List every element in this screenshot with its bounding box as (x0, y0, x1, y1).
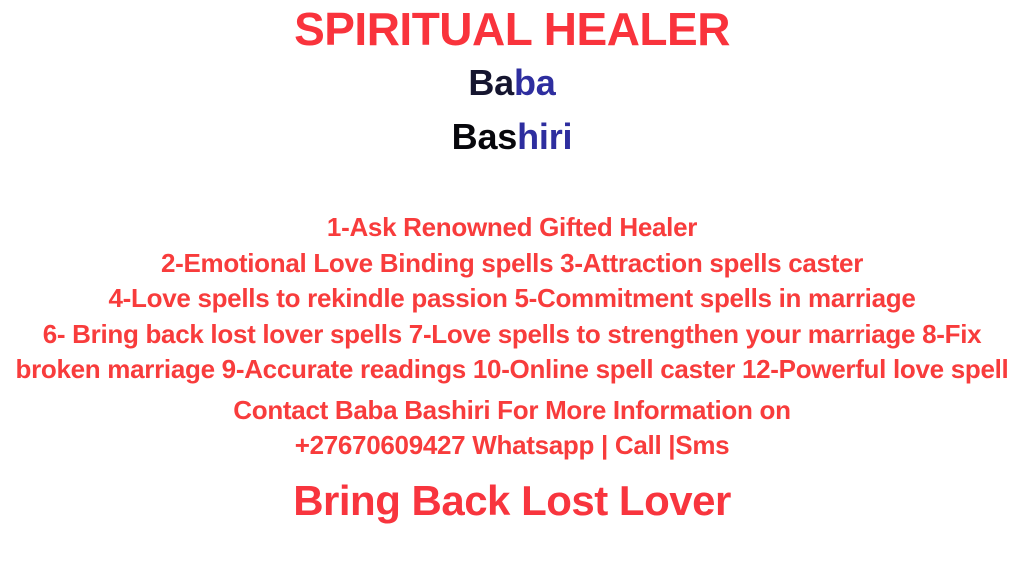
service-line-2: 2-Emotional Love Binding spells 3-Attrac… (4, 246, 1020, 282)
page-title: SPIRITUAL HEALER (0, 2, 1024, 56)
contact-block: Contact Baba Bashiri For More Informatio… (0, 393, 1024, 464)
service-line-4: 6- Bring back lost lover spells 7-Love s… (4, 317, 1020, 388)
services-list: 1-Ask Renowned Gifted Healer 2-Emotional… (0, 210, 1024, 388)
contact-call-to-action: Contact Baba Bashiri For More Informatio… (0, 393, 1024, 429)
practitioner-name-segment-bas-black: Bas (452, 116, 517, 157)
practitioner-name-line-1: Baba (0, 60, 1024, 106)
service-line-3: 4-Love spells to rekindle passion 5-Comm… (4, 281, 1020, 317)
practitioner-name-segment-ba-dark: Ba (468, 62, 514, 103)
footer-tagline: Bring Back Lost Lover (0, 476, 1024, 526)
service-line-1: 1-Ask Renowned Gifted Healer (4, 210, 1020, 246)
spiritual-healer-poster: SPIRITUAL HEALER Baba Bashiri 1-Ask Reno… (0, 0, 1024, 585)
practitioner-name-segment-ba-blue: ba (514, 62, 556, 103)
practitioner-name-segment-hiri-blue: hiri (517, 116, 572, 157)
practitioner-name-line-2: Bashiri (0, 114, 1024, 160)
contact-phone-and-channels[interactable]: +27670609427 Whatsapp | Call |Sms (0, 428, 1024, 464)
